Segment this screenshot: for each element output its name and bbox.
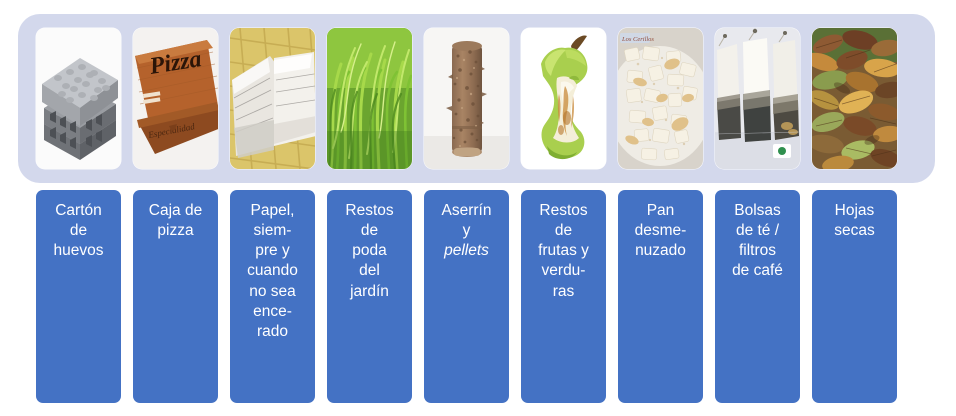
svg-text:Los Cerillos: Los Cerillos	[621, 36, 654, 43]
photo-card-tea-bags	[715, 28, 800, 169]
sawdust-pellet-photo	[424, 28, 509, 169]
tea-bags-photo	[715, 28, 800, 169]
photo-card-dry-leaves	[812, 28, 897, 169]
label-bar-restos-de-poda: Restos de poda del jardín	[327, 190, 412, 403]
compostable-materials-infographic: Pizza Especialidad	[0, 0, 956, 416]
photo-card-apple-core	[521, 28, 606, 169]
watermark-icon: Los Cerillos	[620, 33, 654, 43]
label-bar-hojas-secas: Hojas secas	[812, 190, 897, 403]
label-text-plain: Aserrín y	[442, 202, 492, 239]
label-bar-restos-frutas-verduras: Restos de frutas y verdu- ras	[521, 190, 606, 403]
pizza-box-photo: Pizza Especialidad	[133, 28, 218, 169]
egg-carton-photo	[36, 28, 121, 169]
newspaper-photo	[230, 28, 315, 169]
grass-clippings-photo	[327, 28, 412, 169]
label-row: Cartón de huevos Caja de pizza Papel, si…	[36, 190, 920, 403]
photo-row: Pizza Especialidad	[36, 28, 920, 169]
label-bar-aserrin-y-pellets: Aserrín y pellets	[424, 190, 509, 403]
label-bar-papel: Papel, siem- pre y cuando no sea ence- r…	[230, 190, 315, 403]
photo-card-egg-carton	[36, 28, 121, 169]
label-text-italic: pellets	[444, 242, 489, 259]
label-bar-bolsas-de-te: Bolsas de té / filtros de café	[715, 190, 800, 403]
label-bar-carton-de-huevos: Cartón de huevos	[36, 190, 121, 403]
photo-card-grass	[327, 28, 412, 169]
photo-card-newspaper	[230, 28, 315, 169]
label-bar-caja-de-pizza: Caja de pizza	[133, 190, 218, 403]
dry-leaves-photo	[812, 28, 897, 169]
apple-core-photo	[521, 28, 606, 169]
photo-card-bread-crumbs: Los Cerillos	[618, 28, 703, 169]
photo-card-pizza-box: Pizza Especialidad	[133, 28, 218, 169]
label-bar-pan-desmenuzado: Pan desme- nuzado	[618, 190, 703, 403]
photo-card-sawdust-pellet	[424, 28, 509, 169]
bread-crumbs-photo: Los Cerillos	[618, 28, 703, 169]
